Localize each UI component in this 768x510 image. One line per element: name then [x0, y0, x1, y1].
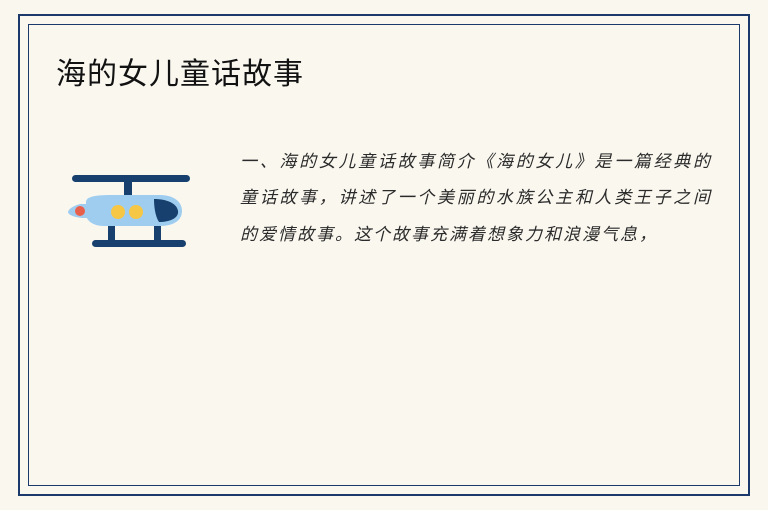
page-title: 海的女儿童话故事: [56, 56, 712, 94]
article-body: 一、海的女儿童话故事简介《海的女儿》是一篇经典的童话故事，讲述了一个美丽的水族公…: [216, 144, 712, 254]
document-page: 海的女儿童话故事: [0, 0, 768, 510]
article-row: 一、海的女儿童话故事简介《海的女儿》是一篇经典的童话故事，讲述了一个美丽的水族公…: [56, 144, 712, 269]
helicopter-illustration: [56, 144, 216, 269]
content-area: 海的女儿童话故事: [56, 56, 712, 464]
